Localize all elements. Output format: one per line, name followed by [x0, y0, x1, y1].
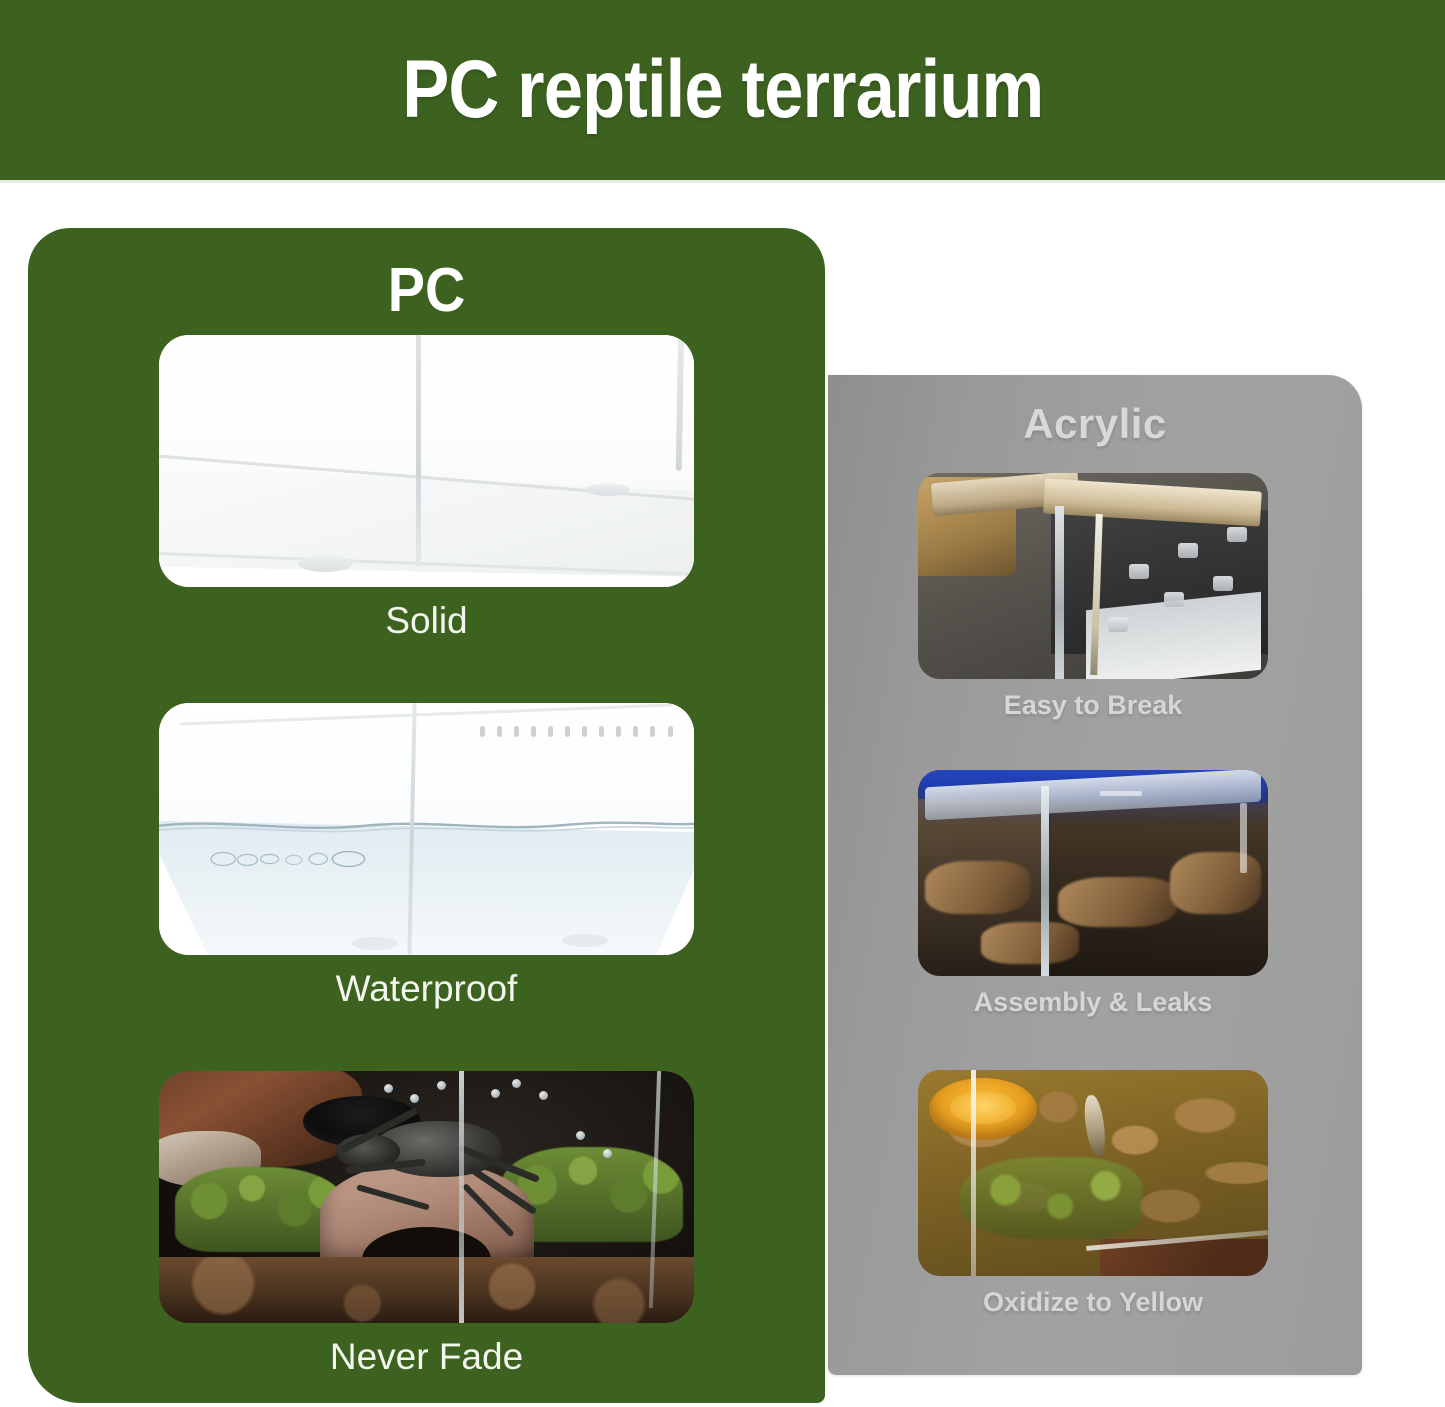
comparison-area: Acrylic: [0, 183, 1445, 1407]
water-bubbles: [207, 847, 389, 871]
feature-caption-solid: Solid: [159, 601, 694, 642]
feature-caption-oxidize-to-yellow: Oxidize to Yellow: [918, 1288, 1268, 1318]
vent-holes: [480, 723, 673, 739]
feature-solid: Solid: [159, 335, 694, 642]
yellowed-acrylic-illustration: [918, 1070, 1268, 1276]
feature-easy-to-break: Easy to Break: [918, 473, 1268, 721]
page-title: PC reptile terrarium: [402, 49, 1043, 131]
feature-image-easy-to-break: [918, 473, 1268, 679]
waterline: [159, 814, 694, 836]
feature-image-waterproof: [159, 703, 694, 955]
feature-caption-waterproof: Waterproof: [159, 969, 694, 1010]
feature-caption-easy-to-break: Easy to Break: [918, 691, 1268, 721]
feature-never-fade: Never Fade: [159, 1071, 694, 1378]
feature-image-solid: [159, 335, 694, 587]
panel-pc: PC Solid: [28, 228, 825, 1403]
terrarium-tarantula-illustration: [159, 1071, 694, 1323]
feature-image-never-fade: [159, 1071, 694, 1323]
feature-image-assembly-leaks: [918, 770, 1268, 976]
acrylic-leak-illustration: [918, 770, 1268, 976]
panel-acrylic-heading: Acrylic: [828, 403, 1362, 445]
feature-assembly-leaks: Assembly & Leaks: [918, 770, 1268, 1018]
feature-image-oxidize-to-yellow: [918, 1070, 1268, 1276]
feature-caption-assembly-leaks: Assembly & Leaks: [918, 988, 1268, 1018]
feature-oxidize-to-yellow: Oxidize to Yellow: [918, 1070, 1268, 1318]
broken-acrylic-illustration: [918, 473, 1268, 679]
waterproof-tank-illustration: [159, 703, 694, 955]
panel-pc-heading: PC: [68, 260, 785, 322]
panel-acrylic: Acrylic: [828, 375, 1362, 1375]
header-banner: PC reptile terrarium: [0, 0, 1445, 180]
clear-pc-box-illustration: [159, 335, 694, 587]
feature-caption-never-fade: Never Fade: [159, 1337, 694, 1378]
feature-waterproof: Waterproof: [159, 703, 694, 1010]
